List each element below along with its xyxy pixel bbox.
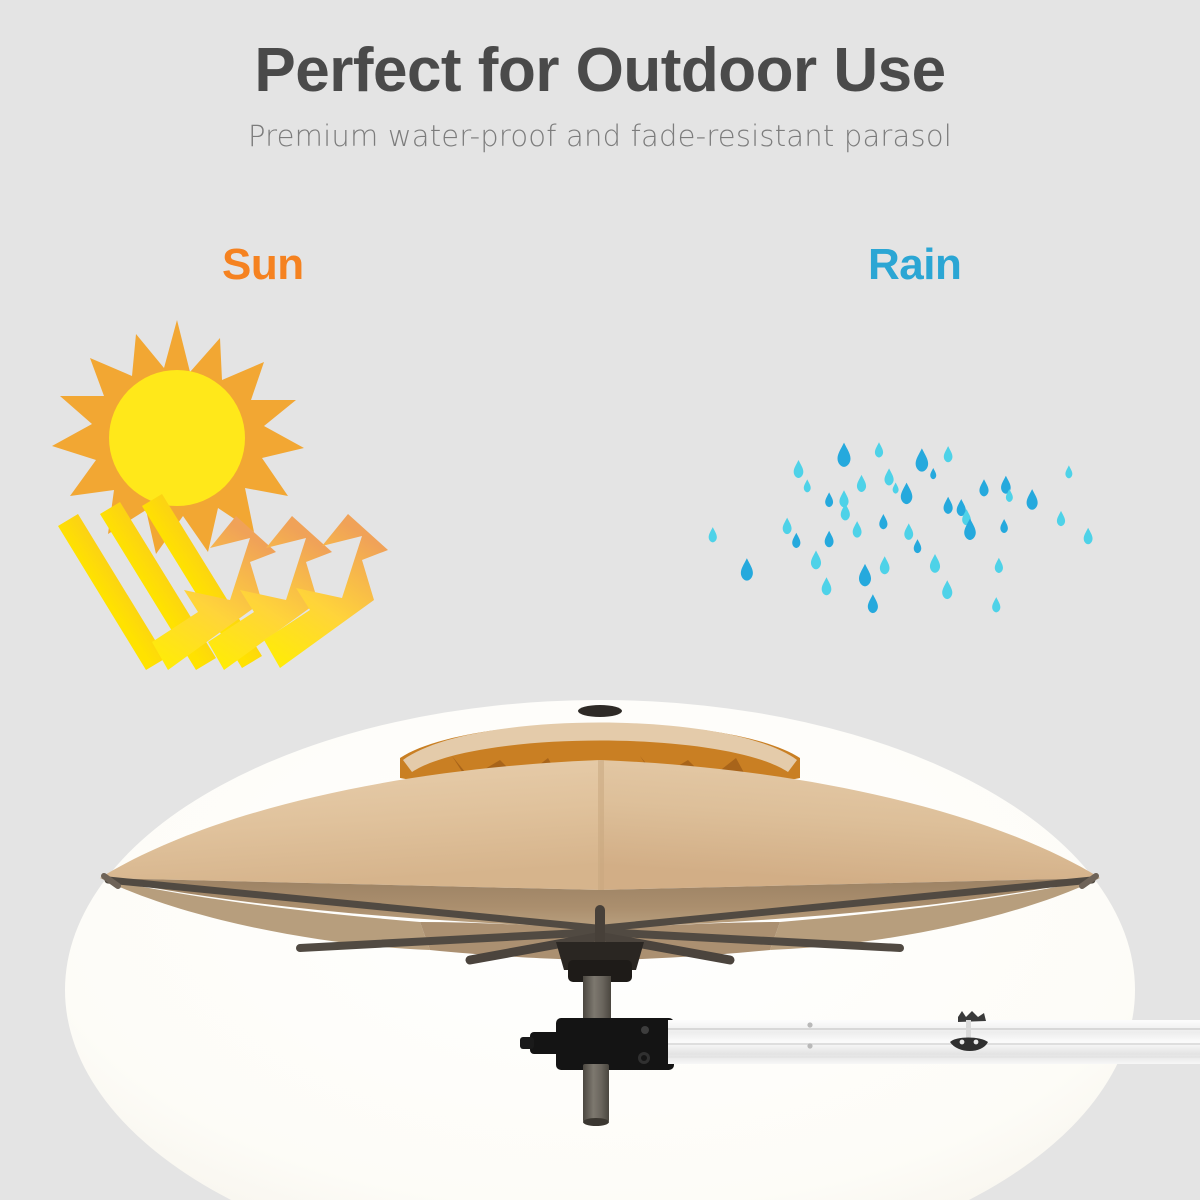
rain-drop (893, 482, 899, 493)
rain-drop (880, 556, 890, 574)
rain-drop (884, 468, 893, 485)
rain-drop (879, 514, 887, 529)
rain-drop (741, 558, 753, 580)
rain-drop (838, 443, 851, 467)
rain-drop (792, 533, 800, 548)
rain-drop (1065, 465, 1072, 478)
rain-drop (825, 492, 833, 507)
rain-drop (868, 594, 878, 613)
rain-drop (825, 531, 834, 548)
page-title: Perfect for Outdoor Use (0, 38, 1200, 103)
pole-upper (583, 976, 611, 1024)
rain-drop (853, 521, 862, 538)
rain-drop (804, 479, 811, 492)
rain-drop (904, 523, 913, 540)
rain-drop (857, 475, 866, 492)
header: Perfect for Outdoor Use Premium water-pr… (0, 38, 1200, 153)
rain-drop (942, 580, 952, 599)
rain-drop (822, 577, 832, 595)
rain-drop (995, 558, 1003, 573)
umbrella-product-image (0, 660, 1200, 1200)
pole-lower (583, 1064, 609, 1122)
rain-drop (794, 460, 804, 478)
rain-drop (944, 446, 953, 462)
rain-drop (979, 479, 988, 496)
section-label-sun: Sun (222, 240, 304, 290)
rain-drop (1000, 519, 1008, 533)
rain-drop (930, 468, 936, 479)
rain-drop (916, 448, 929, 471)
rain-drop (783, 518, 792, 535)
rain-drop (1027, 489, 1038, 510)
rain-drop (1084, 528, 1093, 545)
rain-drop (992, 597, 1000, 612)
rain-drop (859, 564, 871, 586)
section-label-rain: Rain (868, 240, 961, 290)
rain-drop (901, 483, 913, 505)
page-subtitle: Premium water-proof and fade-resistant p… (0, 119, 1200, 153)
sun-icon (52, 320, 304, 554)
rain-drop (930, 554, 940, 573)
rain-drop (1057, 511, 1065, 526)
rain-drop (914, 539, 922, 553)
rain-drop (839, 490, 848, 507)
sun-core (109, 370, 245, 506)
rain-drop (875, 442, 883, 457)
rain-drop (709, 527, 717, 542)
rain-drop (811, 551, 821, 570)
sun-illustration (40, 300, 570, 700)
product-feature-banner: Perfect for Outdoor Use Premium water-pr… (0, 0, 1200, 1200)
rain-drop (944, 497, 953, 514)
sun-rays-deflected-icon (58, 494, 388, 670)
